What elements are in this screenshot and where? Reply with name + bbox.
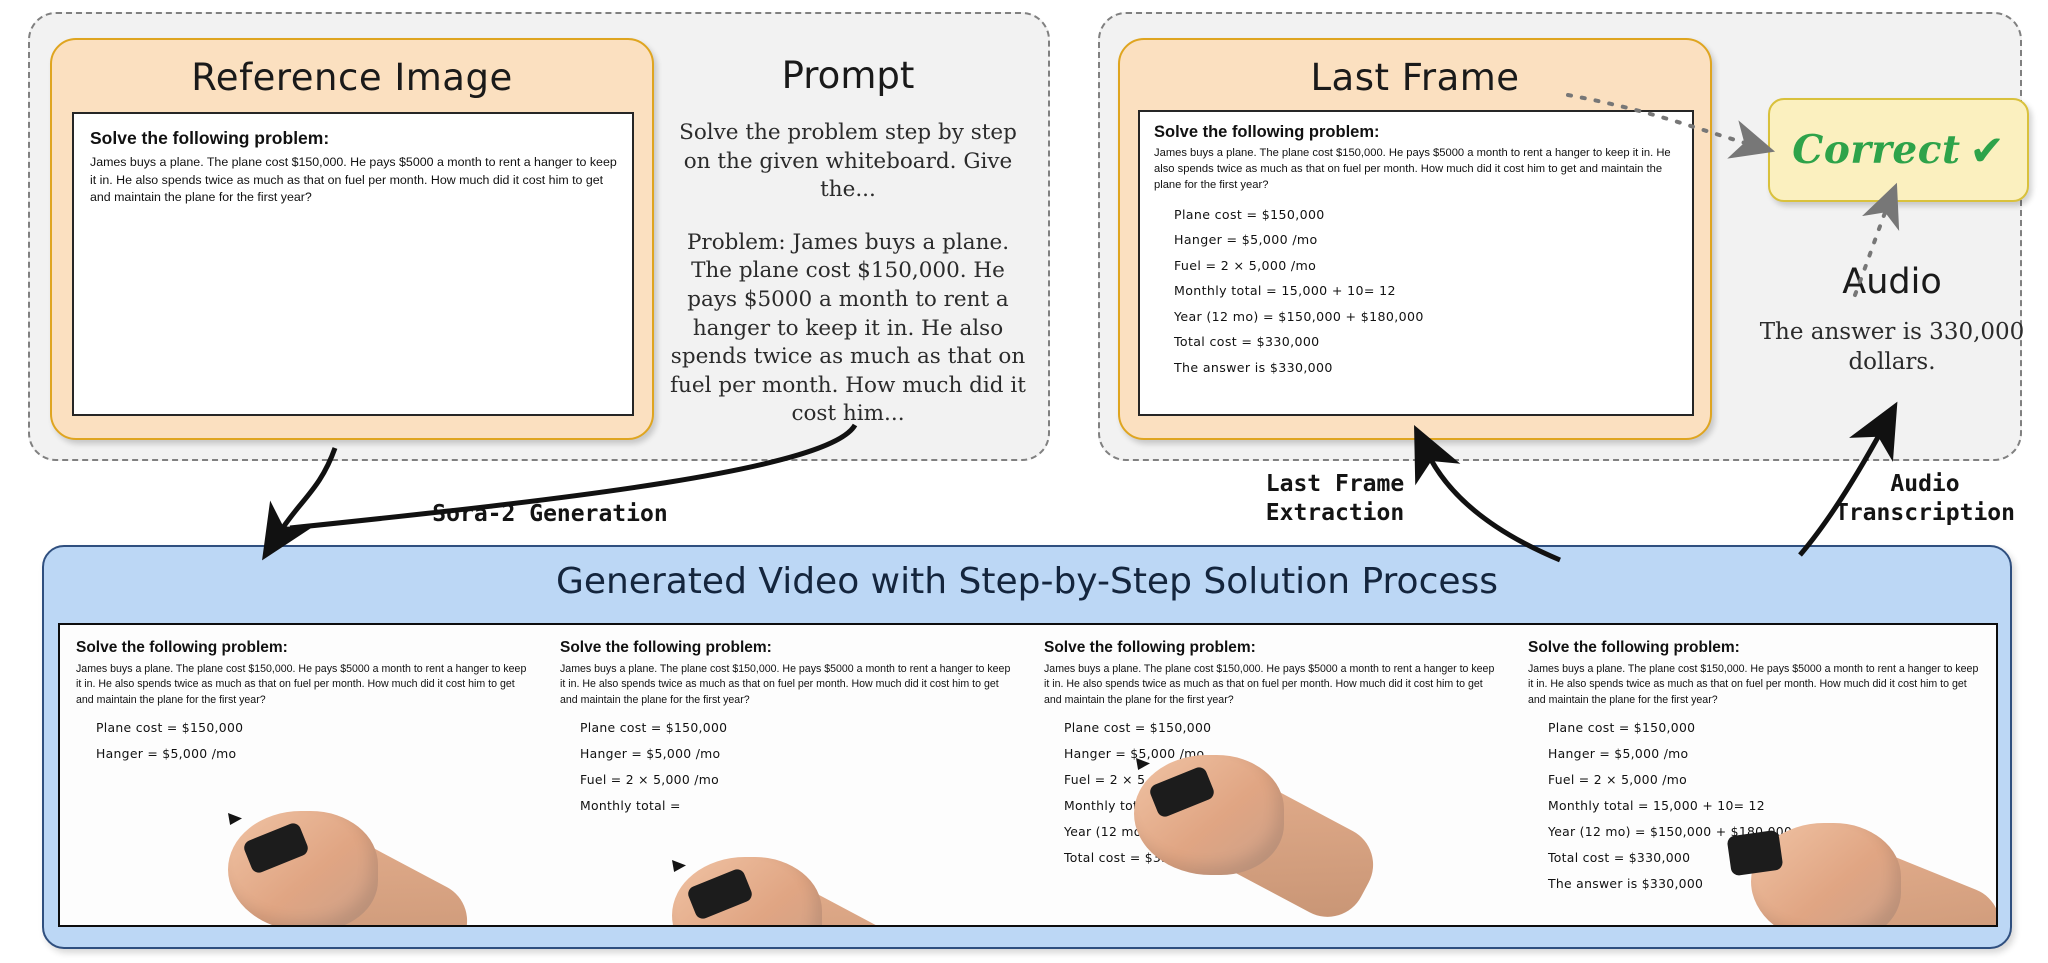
last-frame-step: Hanger = $5,000 /mo [1174,232,1692,247]
prompt-instruction-text: Solve the problem step by step on the gi… [670,119,1026,205]
correct-label: Correct [1792,127,1960,173]
video-frame-body: James buys a plane. The plane cost $150,… [1044,662,1502,708]
video-frame-step: Monthly total = [580,798,1028,813]
audio-transcript-text: The answer is 330,000 dollars. [1742,318,2042,378]
video-frame: Solve the following problem: James buys … [60,625,544,925]
connector-label-audio-transcription: Audio Transcription [1800,470,2048,529]
video-frame-body: James buys a plane. The plane cost $150,… [76,662,534,708]
video-frame-step: Hanger = $5,000 /mo [96,746,544,761]
video-frame-step: Monthly total = 15,000 + 10= 12 [1548,798,1996,813]
video-frame-heading: Solve the following problem: [76,639,544,657]
video-frame-steps: Plane cost = $150,000 Hanger = $5,000 /m… [96,720,544,761]
video-frame-step: Total cost = $330,000 [1548,850,1996,865]
reference-whiteboard-body: James buys a plane. The plane cost $150,… [90,154,618,207]
video-frame-step: Fuel = 2 × 5,000 /mo [1548,772,1996,787]
last-frame-steps-list: Plane cost = $150,000 Hanger = $5,000 /m… [1174,207,1692,375]
last-frame-whiteboard: Solve the following problem: James buys … [1138,110,1694,416]
check-icon: ✔ [1970,126,2005,175]
video-frame-step: Plane cost = $150,000 [96,720,544,735]
video-frame-heading: Solve the following problem: [1044,639,1512,657]
video-frame: Solve the following problem: James buys … [1028,625,1512,925]
connector-label-sora-generation: Sora-2 Generation [380,500,720,529]
correct-status-badge: Correct ✔ [1768,98,2029,202]
video-frame-step: Fuel = 2 × 5,000 /mo [580,772,1028,787]
last-frame-card: Last Frame Solve the following problem: … [1118,38,1712,440]
audio-block: Audio The answer is 330,000 dollars. [1742,262,2042,378]
video-frame-heading: Solve the following problem: [560,639,1028,657]
diagram-canvas: Reference Image Solve the following prob… [0,0,2048,963]
prompt-problem-text: Problem: James buys a plane. The plane c… [670,229,1026,429]
last-frame-whiteboard-heading: Solve the following problem: [1154,123,1692,142]
video-frame-step: Plane cost = $150,000 [1064,720,1512,735]
video-frame-steps: Plane cost = $150,000 Hanger = $5,000 /m… [1548,720,1996,891]
video-frame-heading: Solve the following problem: [1528,639,1996,657]
reference-image-title: Reference Image [52,56,652,99]
video-frame-body: James buys a plane. The plane cost $150,… [1528,662,1986,708]
audio-title: Audio [1742,262,2042,302]
video-frame-step: Monthly total = 15,000 + 10=12 [1064,798,1512,813]
generated-video-panel: Generated Video with Step-by-Step Soluti… [42,545,2012,949]
last-frame-step: Year (12 mo) = $150,000 + $180,000 [1174,309,1692,324]
video-frame-step: Plane cost = $150,000 [1548,720,1996,735]
last-frame-step: Plane cost = $150,000 [1174,207,1692,222]
last-frame-step: The answer is $330,000 [1174,360,1692,375]
last-frame-title: Last Frame [1120,56,1710,99]
connector-label-last-frame-extraction: Last Frame Extraction [1220,470,1450,529]
video-frame: Solve the following problem: James buys … [544,625,1028,925]
prompt-title: Prompt [652,54,1044,97]
reference-image-card: Reference Image Solve the following prob… [50,38,654,440]
video-frame: Solve the following problem: James buys … [1512,625,1996,925]
video-frame-steps: Plane cost = $150,000 Hanger = $5,000 /m… [1064,720,1512,865]
prompt-column: Prompt Solve the problem step by step on… [652,38,1044,438]
video-frame-step: Total cost = $33 [1064,850,1512,865]
reference-whiteboard-heading: Solve the following problem: [90,128,632,149]
arrow-sora-from-reference [278,448,335,535]
video-frame-step: The answer is $330,000 [1548,876,1996,891]
video-frame-step: Fuel = 2 × 5,000 /mo [1064,772,1512,787]
reference-whiteboard: Solve the following problem: James buys … [72,112,634,416]
last-frame-step: Monthly total = 15,000 + 10= 12 [1174,283,1692,298]
video-frame-body: James buys a plane. The plane cost $150,… [560,662,1018,708]
video-frame-step: Year (12 mo) = $150,000 + $180,000 [1064,824,1512,839]
video-frame-steps: Plane cost = $150,000 Hanger = $5,000 /m… [580,720,1028,813]
last-frame-step: Fuel = 2 × 5,000 /mo [1174,258,1692,273]
marker-nib-icon [672,860,686,872]
video-frame-step: Hanger = $5,000 /mo [1064,746,1512,761]
video-frame-step: Hanger = $5,000 /mo [580,746,1028,761]
last-frame-step: Total cost = $330,000 [1174,334,1692,349]
marker-nib-icon [228,813,242,825]
last-frame-whiteboard-body: James buys a plane. The plane cost $150,… [1154,146,1680,194]
generated-video-panel-title: Generated Video with Step-by-Step Soluti… [44,561,2010,602]
video-frame-strip: Solve the following problem: James buys … [58,623,1998,927]
video-frame-step: Hanger = $5,000 /mo [1548,746,1996,761]
video-frame-step: Year (12 mo) = $150,000 + $180,000 [1548,824,1996,839]
video-frame-step: Plane cost = $150,000 [580,720,1028,735]
